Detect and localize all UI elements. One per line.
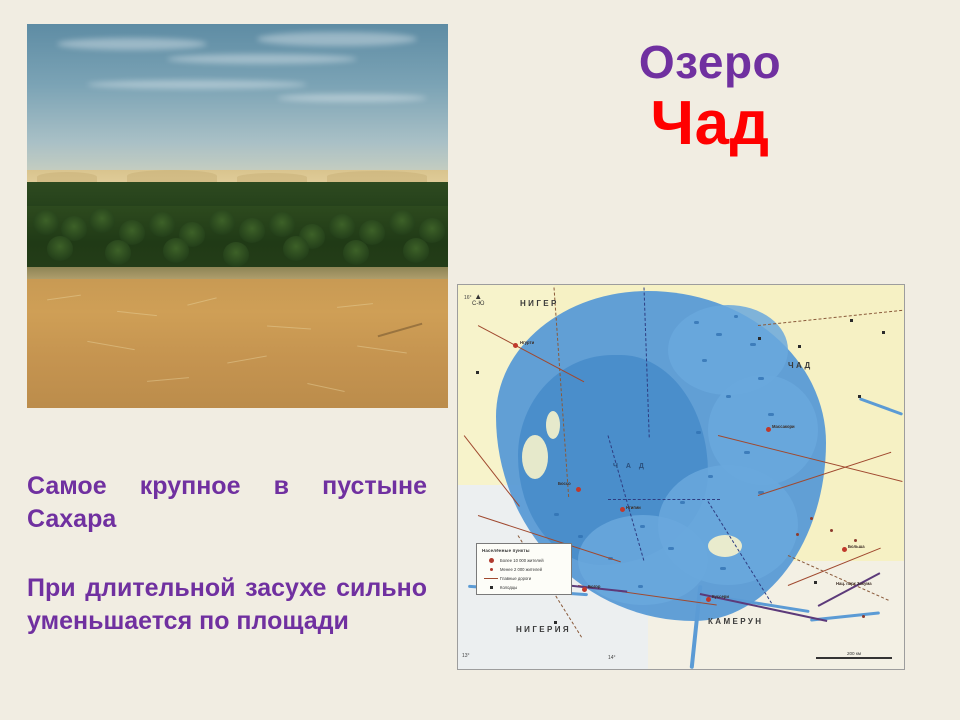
map-city-dot [582, 587, 587, 592]
map-city-dot [706, 597, 711, 602]
compass-icon: ▲ С-Ю [472, 293, 484, 307]
scalebar-line [816, 657, 892, 659]
legend-row-small-town: Менее 2 000 жителей [482, 565, 566, 574]
map-well-dot [858, 395, 861, 398]
map-label-chad: ЧАД [788, 361, 813, 370]
map-city-label: Нгигми [626, 505, 641, 510]
map-city-dot [810, 517, 813, 520]
map-city-dot [854, 539, 857, 542]
map-city-dot [862, 615, 865, 618]
legend-label: Менее 2 000 жителей [500, 567, 542, 572]
legend-label: Главные дороги [500, 576, 531, 581]
map-label-niger: НИГЕР [520, 299, 559, 308]
map-city-dot [766, 427, 771, 432]
photo-sky [27, 24, 448, 176]
map-city-label: Нац. парк Закума [836, 581, 872, 586]
map-city-label: Богор [588, 584, 600, 589]
map-city-label: Массакори [772, 424, 795, 429]
map-city-label: Больша [848, 544, 865, 549]
map-city-dot [830, 529, 833, 532]
map-well-dot [758, 337, 761, 340]
photo-palm-grove [27, 206, 448, 272]
lake-chad-map: ▲ С-Ю НИГЕР ЧАД НИГЕРИЯ КАМЕРУН Ч А Д Нг… [457, 284, 905, 670]
map-city-dot [576, 487, 581, 492]
map-label-cameroon: КАМЕРУН [708, 617, 763, 626]
map-city-label: Боссо [558, 481, 571, 486]
map-coord-label: 13° [462, 653, 470, 659]
map-well-dot [882, 331, 885, 334]
photo-foreground-sand [27, 279, 448, 408]
map-scalebar: 200 км [816, 651, 892, 659]
map-well-dot [554, 621, 557, 624]
compass-arrow: ▲ [472, 293, 484, 301]
scalebar-label: 200 км [816, 651, 892, 656]
legend-row-roads: Главные дороги [482, 574, 566, 583]
page-title-line-2: Чад [480, 91, 940, 156]
title-block: Озеро Чад [480, 38, 940, 156]
page-title-line-1: Озеро [480, 38, 940, 87]
map-city-label: Куссери [712, 594, 729, 599]
legend-row-large-town: Более 10 000 жителей [482, 556, 566, 565]
map-city-dot [620, 507, 625, 512]
map-city-dot [513, 343, 518, 348]
map-well-dot [814, 581, 817, 584]
legend-label: Колодцы [500, 585, 517, 590]
body-paragraph-2: При длительной засухе сильно уменьшается… [27, 572, 427, 638]
legend-key-road-line-icon [482, 578, 500, 579]
map-city-label: Нгурти [520, 340, 534, 345]
body-text-block: Самое крупное в пустыне Сахара При длите… [27, 470, 427, 638]
map-well-dot [476, 371, 479, 374]
map-label-nigeria: НИГЕРИЯ [516, 625, 571, 634]
compass-label: С-Ю [472, 301, 484, 307]
legend-key-well-square-icon [482, 586, 500, 589]
map-legend: Населённые пункты Более 10 000 жителей М… [476, 543, 572, 595]
map-well-dot [850, 319, 853, 322]
legend-key-small-dot-icon [482, 568, 500, 571]
oasis-photograph [27, 24, 448, 408]
map-label-lake-chad: Ч А Д [613, 463, 647, 470]
slide-canvas: Озеро Чад [0, 0, 960, 720]
body-paragraph-1: Самое крупное в пустыне Сахара [27, 470, 427, 536]
legend-title: Населённые пункты [482, 548, 566, 553]
map-coord-label: 16° [464, 295, 472, 301]
map-coord-label: 14° [608, 655, 616, 661]
legend-key-large-dot-icon [482, 558, 500, 563]
map-city-dot [796, 533, 799, 536]
map-well-dot [798, 345, 801, 348]
legend-label: Более 10 000 жителей [500, 558, 544, 563]
legend-row-wells: Колодцы [482, 583, 566, 592]
map-city-dot [842, 547, 847, 552]
